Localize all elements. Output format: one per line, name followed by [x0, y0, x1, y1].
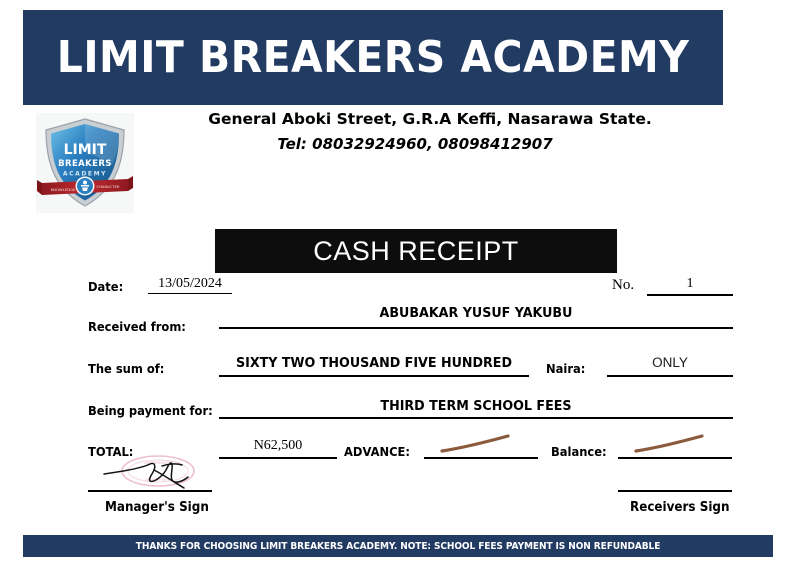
receipt-no-rule: [647, 294, 733, 296]
total-rule: [219, 457, 337, 459]
cash-receipt-title-bar: CASH RECEIPT: [215, 229, 617, 273]
sum-of-rule: [219, 375, 529, 377]
date-label: Date:: [88, 279, 123, 294]
header-banner: LIMIT BREAKERS ACADEMY: [23, 10, 723, 105]
logo-line-3: ACADEMY: [63, 171, 107, 178]
balance-label: Balance:: [551, 444, 607, 459]
manager-signature: LIMIT BREAKERS ACADEMY KEFFI: [92, 452, 222, 494]
naira-value[interactable]: ONLY: [607, 355, 733, 370]
received-from-label: Received from:: [88, 319, 186, 334]
receipt-page: LIMIT BREAKERS ACADEMY: [0, 0, 801, 566]
footer-bar: THANKS FOR CHOOSING LIMIT BREAKERS ACADE…: [23, 535, 773, 557]
balance-strike-mark: [632, 434, 722, 454]
receivers-sign-label: Receivers Sign: [630, 500, 730, 515]
advance-strike-mark: [438, 434, 528, 454]
sum-of-label: The sum of:: [88, 361, 164, 376]
logo-line-1: LIMIT: [64, 142, 107, 158]
manager-sign-label: Manager's Sign: [105, 500, 209, 515]
academy-title: LIMIT BREAKERS ACADEMY: [57, 32, 689, 83]
ribbon-left-text: KNOWLEDGE: [51, 187, 76, 192]
naira-label: Naira:: [546, 361, 585, 376]
payment-for-rule: [219, 417, 733, 419]
sum-of-value[interactable]: SIXTY TWO THOUSAND FIVE HUNDRED: [228, 355, 519, 371]
shield-logo-icon: LIMIT BREAKERS ACADEMY KNOWLEDGE CHARACT…: [36, 113, 134, 213]
payment-for-value[interactable]: THIRD TERM SCHOOL FEES: [234, 398, 717, 414]
received-from-value[interactable]: ABUBAKAR YUSUF YAKUBU: [234, 305, 717, 321]
naira-rule: [607, 375, 733, 377]
cash-receipt-title: CASH RECEIPT: [313, 236, 519, 267]
received-from-rule: [219, 327, 733, 329]
manager-sign-rule: [88, 490, 212, 492]
balance-rule: [618, 457, 732, 459]
total-value[interactable]: N62,500: [219, 438, 337, 454]
date-rule: [148, 293, 232, 294]
logo-line-2: BREAKERS: [58, 159, 112, 169]
date-value[interactable]: 13/05/2024: [148, 276, 232, 292]
advance-label: ADVANCE:: [344, 444, 410, 459]
advance-rule: [424, 457, 538, 459]
payment-for-label: Being payment for:: [88, 403, 213, 418]
ribbon-right-text: CHARACTER: [96, 184, 119, 189]
telephone-line: Tel: 08032924960, 08098412907: [150, 135, 680, 153]
academy-logo: LIMIT BREAKERS ACADEMY KNOWLEDGE CHARACT…: [36, 113, 134, 213]
footer-text: THANKS FOR CHOOSING LIMIT BREAKERS ACADE…: [136, 541, 660, 552]
receipt-no-label: No.: [612, 277, 634, 294]
receipt-no-value[interactable]: 1: [647, 276, 733, 292]
address-line: General Aboki Street, G.R.A Keffi, Nasar…: [150, 110, 710, 128]
receivers-sign-rule: [618, 490, 732, 492]
